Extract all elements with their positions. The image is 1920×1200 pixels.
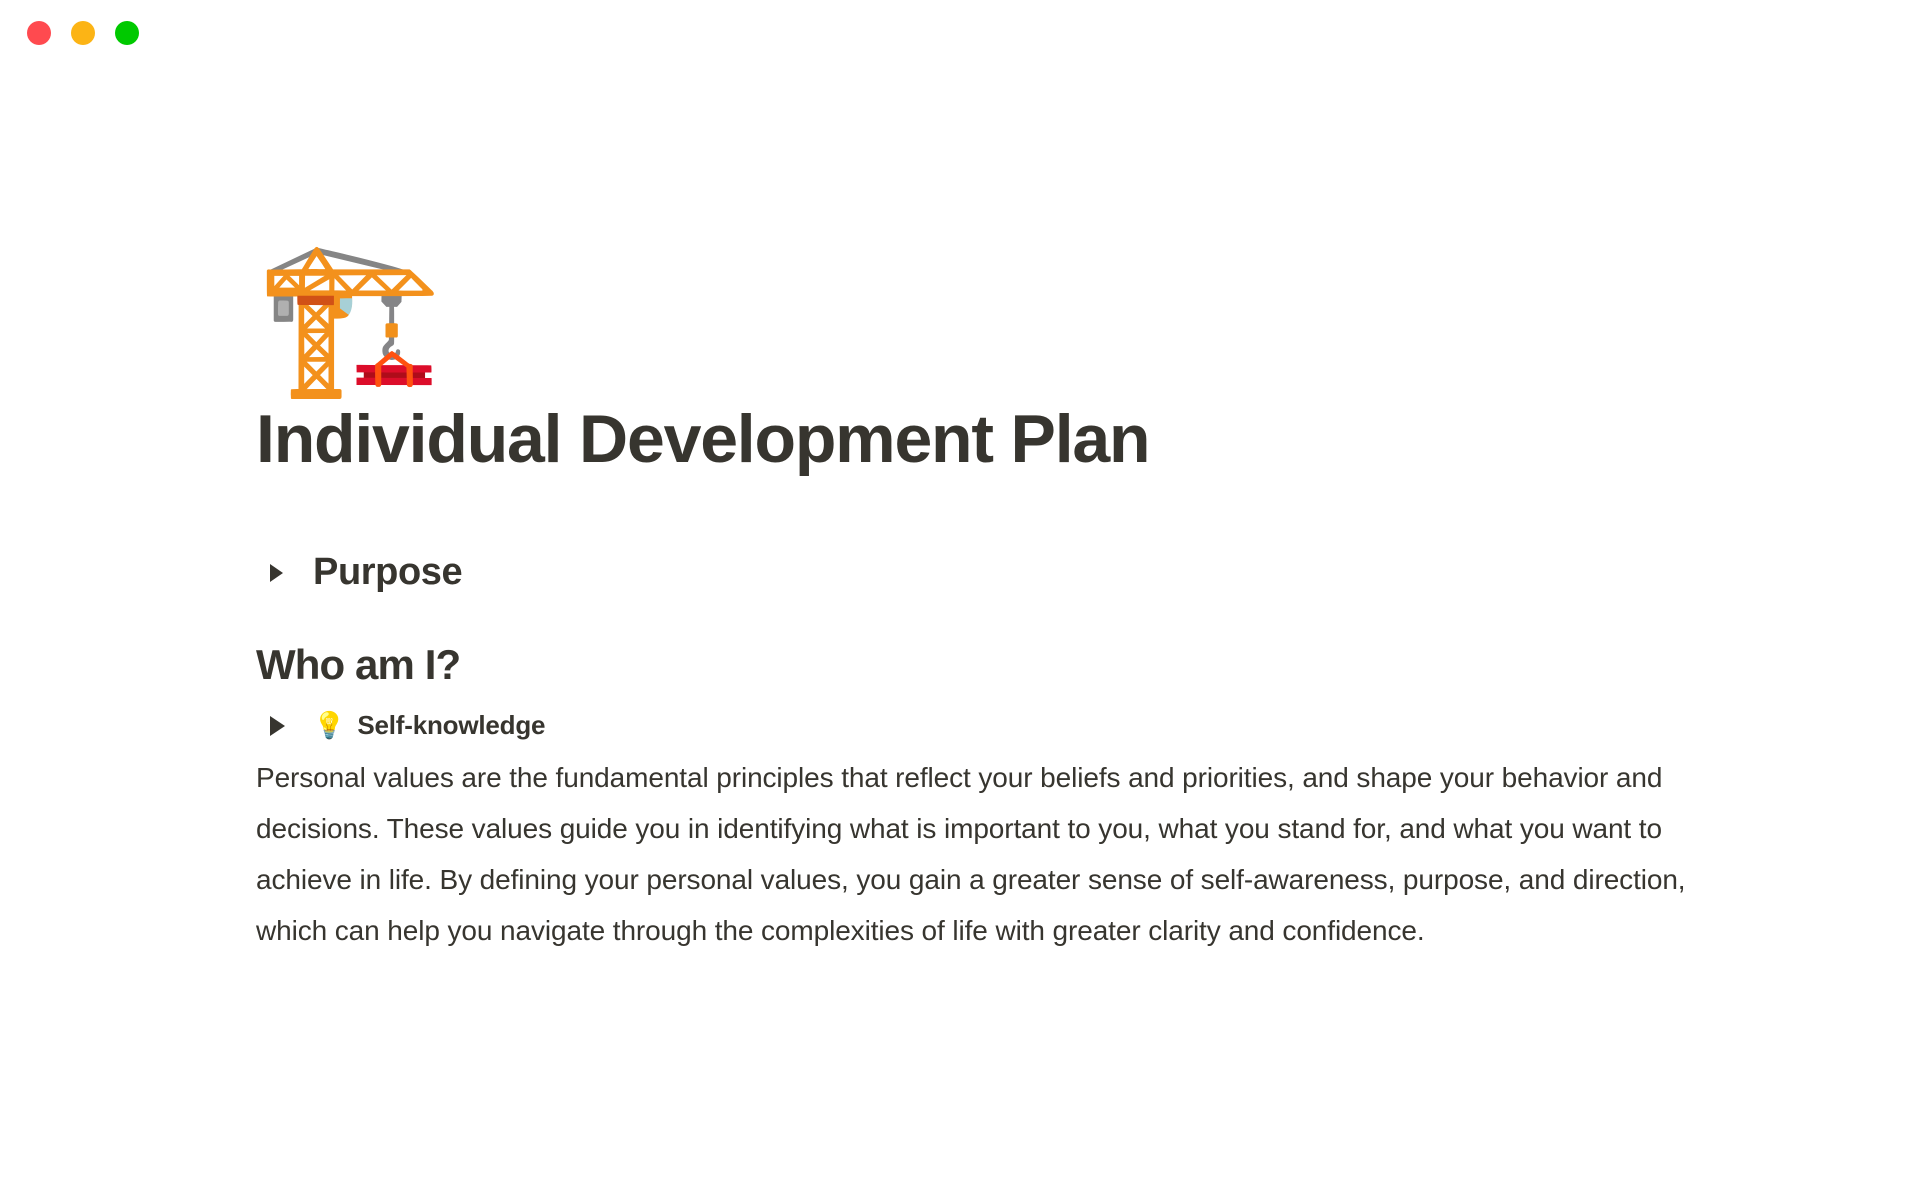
page-title[interactable]: Individual Development Plan	[256, 402, 1149, 477]
section-heading-who-am-i[interactable]: Who am I?	[256, 640, 460, 690]
toggle-label-purpose: Purpose	[313, 550, 462, 596]
window-titlebar	[0, 0, 1920, 62]
toggle-label-self-knowledge: Self-knowledge	[357, 710, 545, 741]
window-traffic-lights	[27, 21, 139, 45]
close-window-button[interactable]	[27, 21, 51, 45]
light-bulb-icon: 💡	[313, 713, 345, 739]
building-construction-emoji[interactable]: 🏗️	[256, 242, 443, 412]
chevron-right-icon[interactable]	[270, 716, 285, 736]
chevron-right-icon[interactable]	[270, 564, 283, 582]
document-page: 🏗️ Individual Development Plan Purpose W…	[0, 62, 1920, 1200]
maximize-window-button[interactable]	[115, 21, 139, 45]
minimize-window-button[interactable]	[71, 21, 95, 45]
toggle-block-self-knowledge[interactable]: 💡 Self-knowledge	[270, 710, 545, 741]
paragraph-personal-values[interactable]: Personal values are the fundamental prin…	[256, 752, 1686, 956]
toggle-block-purpose[interactable]: Purpose	[270, 550, 462, 596]
